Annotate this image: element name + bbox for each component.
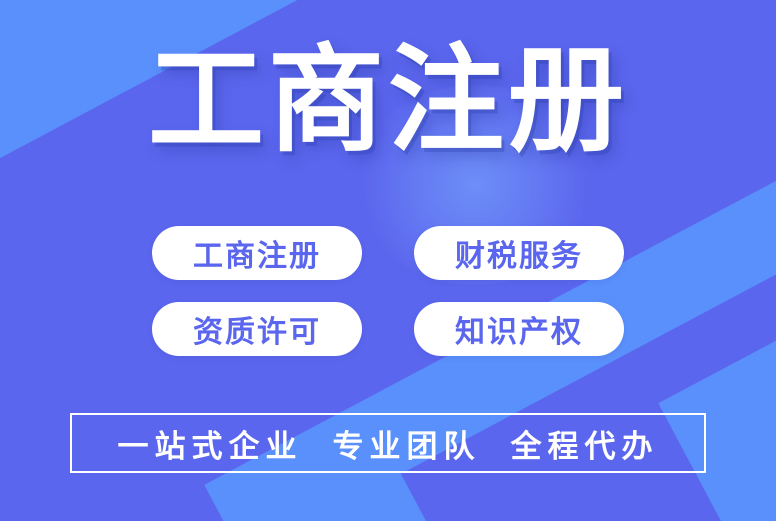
tagline-item-pro-team: 专业团队	[333, 421, 481, 466]
tagline-banner: 一站式企业 专业团队 全程代办	[70, 413, 706, 473]
tagline-item-full-service: 全程代办	[511, 421, 659, 466]
service-pill-caishuifuwu[interactable]: 财税服务	[414, 226, 624, 280]
service-pill-label: 资质许可	[193, 307, 321, 351]
tagline-item-one-stop: 一站式企业	[118, 421, 303, 466]
service-pill-zizhixuke[interactable]: 资质许可	[152, 302, 362, 356]
service-pill-grid: 工商注册 财税服务 资质许可 知识产权	[152, 226, 624, 356]
page-title: 工商注册	[0, 38, 776, 163]
service-pill-label: 知识产权	[455, 307, 583, 351]
promo-poster: 工商注册 工商注册 财税服务 资质许可 知识产权 一站式企业 专业团队 全程代办	[0, 0, 776, 521]
service-pill-label: 财税服务	[455, 231, 583, 275]
service-pill-gongshangzhuce[interactable]: 工商注册	[152, 226, 362, 280]
service-pill-zhishichanquan[interactable]: 知识产权	[414, 302, 624, 356]
service-pill-label: 工商注册	[193, 231, 321, 275]
